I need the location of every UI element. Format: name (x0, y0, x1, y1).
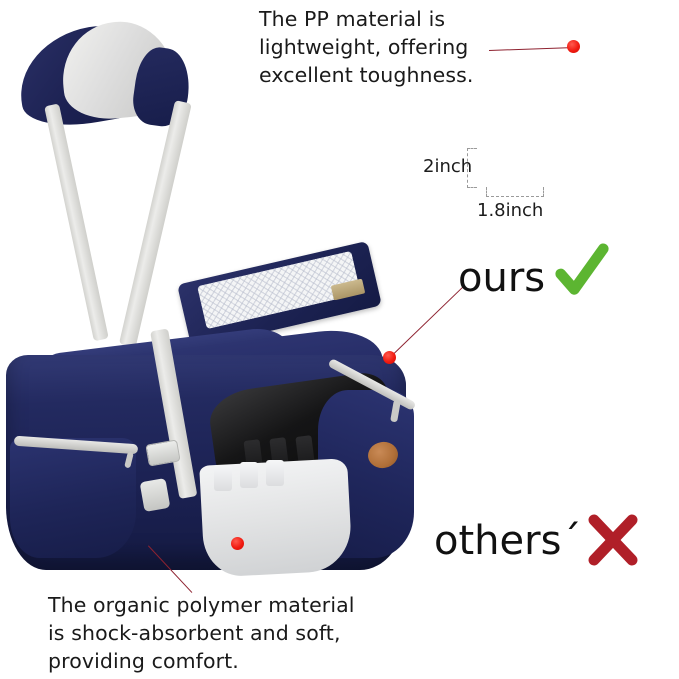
panel-tab (240, 462, 258, 488)
cross-icon (587, 514, 639, 566)
front-zip-pocket (10, 438, 136, 558)
shoulder-webbing-right (119, 100, 192, 347)
callout-marker-dot-organic-polymer (231, 537, 244, 550)
others-label: others´ (434, 521, 581, 561)
width-dimension-label: 1.8inch (477, 200, 543, 221)
callout-marker-dot-ours (383, 351, 396, 364)
width-dimension-bracket (486, 187, 544, 197)
callout-marker-dot-pp-material (567, 40, 580, 53)
panel-tab (214, 465, 232, 491)
panel-tab (266, 460, 284, 486)
infographic-canvas: 2inch 1.8inch The PP material is lightwe… (0, 0, 679, 679)
product-hip-seat-carrier (0, 10, 440, 590)
shoulder-webbing-left (44, 103, 109, 341)
callout-text-pp-material: The PP material is lightweight, offering… (259, 6, 499, 90)
ours-label: ours (458, 258, 545, 298)
others-clip-photo (470, 330, 610, 510)
callout-text-organic-polymer: The organic polymer material is shock-ab… (48, 592, 398, 676)
height-dimension-label: 2inch (423, 156, 472, 177)
strap-slider-buckle (140, 478, 171, 512)
check-icon (553, 243, 611, 301)
